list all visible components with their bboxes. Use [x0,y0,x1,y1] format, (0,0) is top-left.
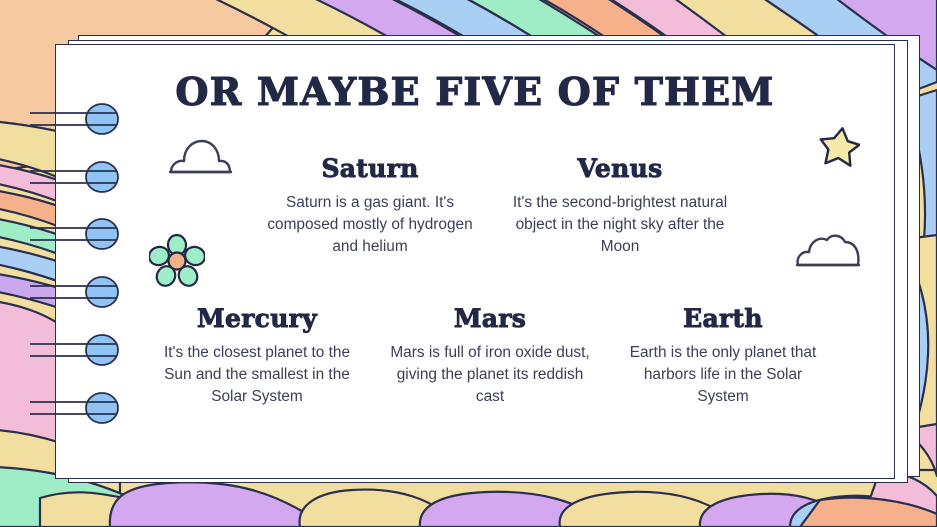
planet-card-mercury: Mercury It's the closest planet to the S… [141,305,374,408]
planet-name: Earth [617,305,830,333]
planet-card-earth: Earth Earth is the only planet that harb… [607,305,840,408]
slide-canvas: OR MAYBE FIVE OF THEM Saturn Saturn is a… [0,0,937,527]
planet-description: It's the second-brightest natural object… [505,192,735,259]
star-icon [818,125,860,167]
planet-description: It's the closest planet to the Sun and t… [151,342,364,409]
planet-card-mars: Mars Mars is full of iron oxide dust, gi… [374,305,607,408]
planet-row-bottom: Mercury It's the closest planet to the S… [140,305,840,408]
planet-card-venus: Venus It's the second-brightest natural … [495,155,745,258]
cloud-icon [166,138,234,178]
cloud-icon [793,232,863,272]
planet-name: Mercury [151,305,364,333]
flower-icon [149,234,205,288]
planet-name: Venus [505,155,735,183]
page-title: OR MAYBE FIVE OF THEM [55,73,895,111]
planet-card-saturn: Saturn Saturn is a gas giant. It's compo… [245,155,495,258]
planet-name: Saturn [255,155,485,183]
planet-description: Earth is the only planet that harbors li… [617,342,830,409]
planet-row-top: Saturn Saturn is a gas giant. It's compo… [245,155,745,258]
planet-description: Saturn is a gas giant. It's composed mos… [255,192,485,259]
planet-description: Mars is full of iron oxide dust, giving … [384,342,597,409]
planet-name: Mars [384,305,597,333]
